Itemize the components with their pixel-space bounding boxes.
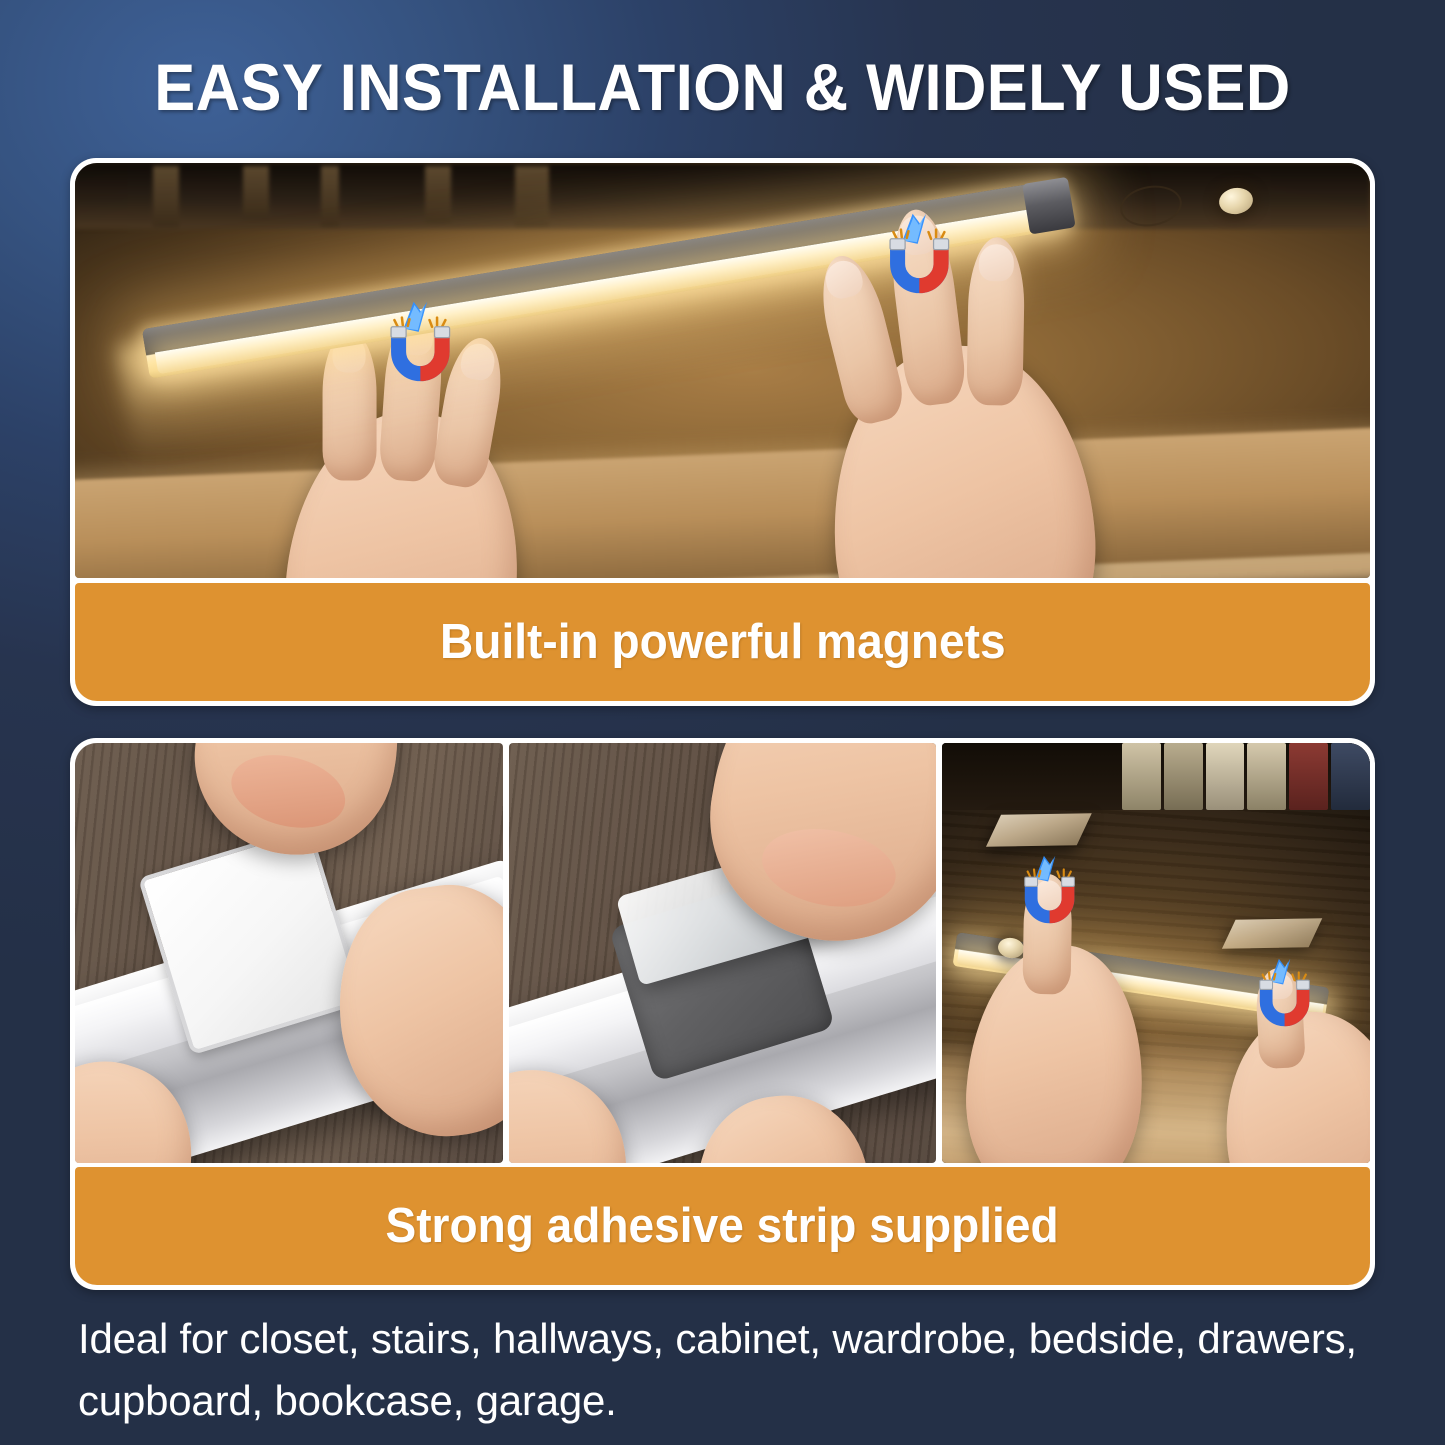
photo-under-cabinet-magnet-install [75, 163, 1370, 578]
magnet-icon [1250, 949, 1322, 1027]
bar-end-cap [1023, 177, 1077, 235]
finger [966, 237, 1025, 406]
scene-bookshelf [942, 743, 1370, 1163]
product-infographic: EASY INSTALLATION & WIDELY USED [0, 0, 1445, 1445]
adhesive-metal-plate [986, 814, 1091, 847]
caption-bar-magnets: Built-in powerful magnets [75, 583, 1370, 701]
magnet-icon [379, 290, 465, 382]
books-on-shelf [942, 743, 1370, 810]
page-title: EASY INSTALLATION & WIDELY USED [51, 47, 1395, 127]
caption-bar-adhesive: Strong adhesive strip supplied [75, 1167, 1370, 1285]
feature-card-magnets: Built-in powerful magnets [70, 158, 1375, 706]
finger [323, 330, 377, 480]
photo-apply-adhesive-pad [75, 743, 503, 1163]
scene-cabinet [75, 163, 1370, 578]
magnet-icon [1015, 846, 1087, 924]
feature-card-adhesive: Strong adhesive strip supplied [70, 738, 1375, 1290]
photo-peel-backing-film [509, 743, 937, 1163]
caption-text: Strong adhesive strip supplied [386, 1198, 1059, 1254]
adhesive-metal-plate [1222, 919, 1322, 950]
photo-row-adhesive [75, 743, 1370, 1163]
magnet-icon [878, 202, 964, 294]
usage-description: Ideal for closet, stairs, hallways, cabi… [78, 1308, 1368, 1432]
photo-mount-under-bookshelf [942, 743, 1370, 1163]
photo-row-magnets [75, 163, 1370, 578]
caption-text: Built-in powerful magnets [440, 614, 1006, 670]
